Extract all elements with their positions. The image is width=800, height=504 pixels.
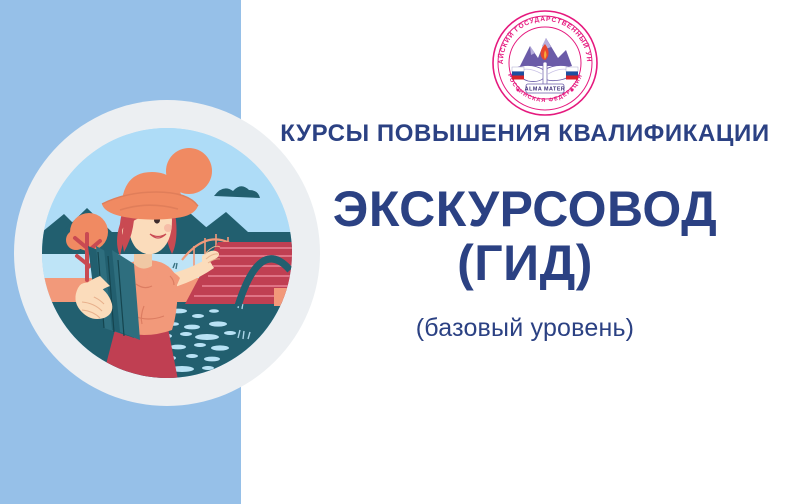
page-title: ЭКСКУРСОВОД (ГИД) [250, 182, 800, 290]
headline-block: КУРСЫ ПОВЫШЕНИЯ КВАЛИФИКАЦИИ ЭКСКУРСОВОД… [250, 120, 800, 343]
university-seal: ГОРНО-АЛТАЙСКИЙ ГОСУДАРСТВЕННЫЙ УНИВЕРСИ… [490, 8, 600, 118]
subtitle-text: (базовый уровень) [250, 314, 800, 343]
title-line-2: (ГИД) [250, 236, 800, 290]
seal-center-text: ALMA MATER [525, 87, 566, 93]
kicker-text: КУРСЫ ПОВЫШЕНИЯ КВАЛИФИКАЦИИ [250, 120, 800, 148]
title-line-1: ЭКСКУРСОВОД [333, 181, 717, 237]
poster-canvas: ГОРНО-АЛТАЙСКИЙ ГОСУДАРСТВЕННЫЙ УНИВЕРСИ… [0, 0, 800, 504]
